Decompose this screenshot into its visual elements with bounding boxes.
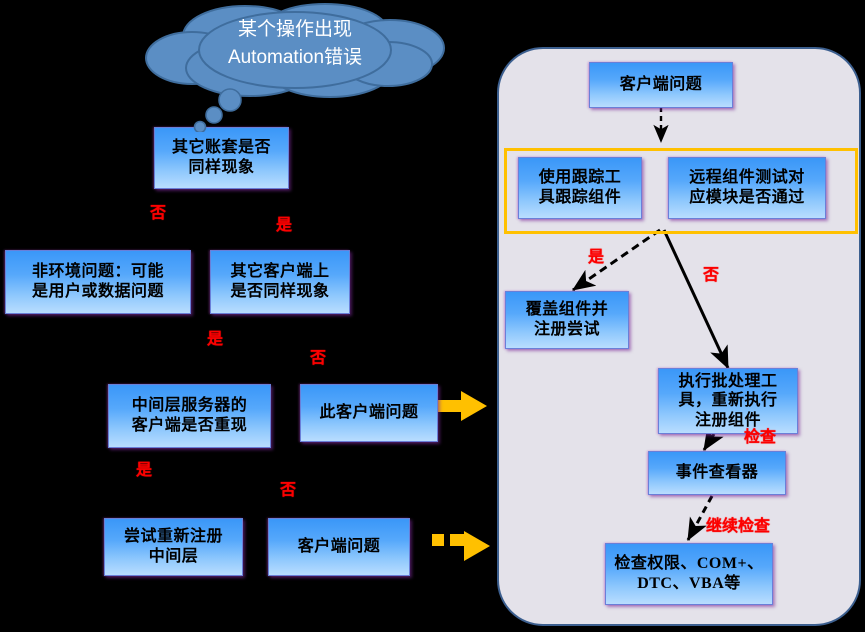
box-midtier-client[interactable]: 中间层服务器的 客户端是否重现 xyxy=(108,384,271,448)
box-line-2: 中间层 xyxy=(109,547,238,567)
box-retry-register-mid[interactable]: 尝试重新注册 中间层 xyxy=(104,518,243,576)
box-overwrite-register[interactable]: 覆盖组件并 注册尝试 xyxy=(505,291,629,349)
box-line-1: 其它客户端上 xyxy=(215,262,345,282)
box-line-1: 其它账套是否 xyxy=(159,138,284,158)
flowchart-canvas: 某个操作出现 Automation错误 其它账套是否 同样现象 非环境问题：可能… xyxy=(0,0,865,632)
box-line-1: 尝试重新注册 xyxy=(109,527,238,547)
box-line-1: 此客户端问题 xyxy=(305,403,433,423)
block-arrow-lower xyxy=(432,531,490,561)
box-trace-tool[interactable]: 使用跟踪工 具跟踪组件 xyxy=(518,157,642,219)
box-line-1: 中间层服务器的 xyxy=(113,396,266,416)
box-line-2: 是用户或数据问题 xyxy=(10,282,186,302)
box-batch-tool[interactable]: 执行批处理工 具，重新执行 注册组件 xyxy=(658,368,798,434)
box-line-2: 具跟踪组件 xyxy=(523,188,637,208)
box-line-1: 执行批处理工 xyxy=(663,372,793,392)
box-line-2: 具，重新执行 xyxy=(663,391,793,411)
box-this-client-issue[interactable]: 此客户端问题 xyxy=(300,384,438,442)
box-line-1: 覆盖组件并 xyxy=(510,300,624,320)
box-other-client[interactable]: 其它客户端上 是否同样现象 xyxy=(210,250,350,314)
label-yes-3: 是 xyxy=(136,456,152,480)
box-line-1: 检查权限、COM+、 xyxy=(610,554,768,574)
label-yes-1: 是 xyxy=(276,211,292,235)
box-line-2: 是否同样现象 xyxy=(215,282,345,302)
box-check-perms[interactable]: 检查权限、COM+、 DTC、VBA等 xyxy=(605,543,773,605)
box-line-1: 事件查看器 xyxy=(653,463,781,483)
label-yes-trace: 是 xyxy=(588,243,604,267)
label-no-1: 否 xyxy=(150,199,166,223)
box-remote-test[interactable]: 远程组件测试对 应模块是否通过 xyxy=(668,157,826,219)
thought-cloud: 某个操作出现 Automation错误 xyxy=(140,2,450,132)
box-line-2: 应模块是否通过 xyxy=(673,188,821,208)
box-line-1: 使用跟踪工 xyxy=(523,168,637,188)
box-line-2: 同样现象 xyxy=(159,158,284,178)
block-arrow-upper xyxy=(438,391,487,421)
box-not-env-issue[interactable]: 非环境问题：可能 是用户或数据问题 xyxy=(5,250,191,314)
label-no-trace: 否 xyxy=(703,261,719,285)
box-line-1: 客户端问题 xyxy=(594,75,728,95)
box-event-viewer[interactable]: 事件查看器 xyxy=(648,451,786,495)
label-continue: 继续检查 xyxy=(706,512,770,536)
box-line-1: 远程组件测试对 xyxy=(673,168,821,188)
box-line-1: 客户端问题 xyxy=(273,537,405,557)
box-other-account-set[interactable]: 其它账套是否 同样现象 xyxy=(154,127,289,189)
label-no-2: 否 xyxy=(310,344,326,368)
box-line-2: 客户端是否重现 xyxy=(113,416,266,436)
label-no-3: 否 xyxy=(280,476,296,500)
box-line-2: DTC、VBA等 xyxy=(610,574,768,594)
box-line-1: 非环境问题：可能 xyxy=(10,262,186,282)
label-check: 检查 xyxy=(744,423,776,447)
box-line-2: 注册尝试 xyxy=(510,320,624,340)
label-yes-2: 是 xyxy=(207,325,223,349)
box-client-issue-right[interactable]: 客户端问题 xyxy=(589,62,733,108)
box-client-issue-left[interactable]: 客户端问题 xyxy=(268,518,410,576)
